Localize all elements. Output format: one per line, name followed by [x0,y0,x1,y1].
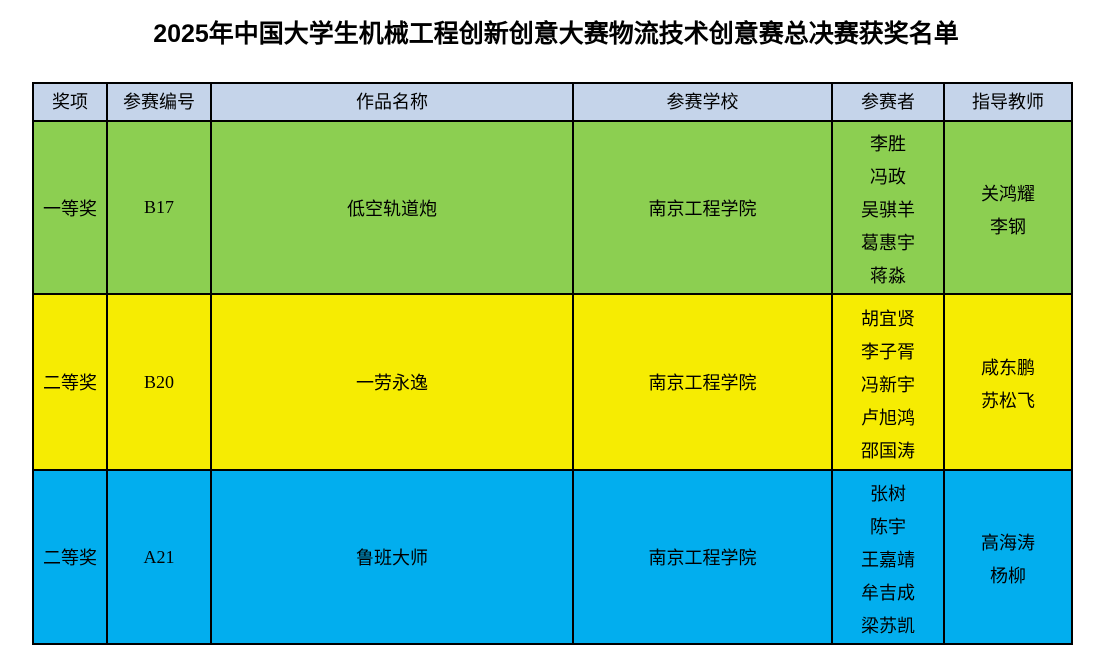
award-table-container: 奖项 参赛编号 作品名称 参赛学校 参赛者 指导教师 一等奖 B17 低空轨道炮… [32,82,1071,645]
member-name: 葛惠宇 [833,227,943,260]
cell-work: 低空轨道炮 [211,121,573,294]
column-header-award: 奖项 [33,83,107,121]
cell-work: 鲁班大师 [211,470,573,644]
member-name: 牟吉成 [833,577,943,610]
teacher-name: 杨柳 [945,560,1071,593]
page-title: 2025年中国大学生机械工程创新创意大赛物流技术创意赛总决赛获奖名单 [0,14,1112,50]
cell-members: 李胜 冯政 吴骐羊 葛惠宇 蒋淼 [832,121,944,294]
member-name: 胡宜贤 [833,303,943,336]
member-name-list: 张树 陈宇 王嘉靖 牟吉成 梁苏凯 [833,472,943,643]
cell-teachers: 关鸿耀 李钢 [944,121,1072,294]
member-name: 李胜 [833,128,943,161]
cell-code: B17 [107,121,211,294]
cell-teachers: 高海涛 杨柳 [944,470,1072,644]
column-header-teachers: 指导教师 [944,83,1072,121]
teacher-name: 咸东鹏 [945,352,1071,385]
cell-school: 南京工程学院 [573,470,832,644]
column-header-code: 参赛编号 [107,83,211,121]
member-name: 卢旭鸿 [833,402,943,435]
cell-members: 胡宜贤 李子胥 冯新宇 卢旭鸿 邵国涛 [832,294,944,470]
cell-teachers: 咸东鹏 苏松飞 [944,294,1072,470]
cell-work: 一劳永逸 [211,294,573,470]
member-name: 邵国涛 [833,435,943,468]
cell-members: 张树 陈宇 王嘉靖 牟吉成 梁苏凯 [832,470,944,644]
teacher-name-list: 关鸿耀 李钢 [945,172,1071,244]
member-name-list: 胡宜贤 李子胥 冯新宇 卢旭鸿 邵国涛 [833,297,943,468]
cell-school: 南京工程学院 [573,121,832,294]
teacher-name: 苏松飞 [945,385,1071,418]
table-row: 二等奖 A21 鲁班大师 南京工程学院 张树 陈宇 王嘉靖 牟吉成 梁苏凯 [33,470,1072,644]
table-body: 一等奖 B17 低空轨道炮 南京工程学院 李胜 冯政 吴骐羊 葛惠宇 蒋淼 [33,121,1072,644]
member-name: 吴骐羊 [833,194,943,227]
teacher-name: 关鸿耀 [945,178,1071,211]
teacher-name-list: 高海涛 杨柳 [945,521,1071,593]
member-name: 蒋淼 [833,260,943,293]
table-row: 一等奖 B17 低空轨道炮 南京工程学院 李胜 冯政 吴骐羊 葛惠宇 蒋淼 [33,121,1072,294]
member-name: 冯政 [833,161,943,194]
member-name-list: 李胜 冯政 吴骐羊 葛惠宇 蒋淼 [833,122,943,293]
column-header-work: 作品名称 [211,83,573,121]
cell-code: B20 [107,294,211,470]
teacher-name: 高海涛 [945,527,1071,560]
column-header-members: 参赛者 [832,83,944,121]
cell-award: 一等奖 [33,121,107,294]
cell-award: 二等奖 [33,294,107,470]
award-table: 奖项 参赛编号 作品名称 参赛学校 参赛者 指导教师 一等奖 B17 低空轨道炮… [32,82,1073,645]
member-name: 李子胥 [833,336,943,369]
member-name: 陈宇 [833,511,943,544]
member-name: 冯新宇 [833,369,943,402]
teacher-name-list: 咸东鹏 苏松飞 [945,346,1071,418]
column-header-school: 参赛学校 [573,83,832,121]
member-name: 张树 [833,478,943,511]
page-root: 2025年中国大学生机械工程创新创意大赛物流技术创意赛总决赛获奖名单 奖项 参赛… [0,0,1112,660]
cell-school: 南京工程学院 [573,294,832,470]
cell-award: 二等奖 [33,470,107,644]
cell-code: A21 [107,470,211,644]
table-header-row: 奖项 参赛编号 作品名称 参赛学校 参赛者 指导教师 [33,83,1072,121]
member-name: 王嘉靖 [833,544,943,577]
table-header: 奖项 参赛编号 作品名称 参赛学校 参赛者 指导教师 [33,83,1072,121]
teacher-name: 李钢 [945,211,1071,244]
member-name: 梁苏凯 [833,610,943,643]
table-row: 二等奖 B20 一劳永逸 南京工程学院 胡宜贤 李子胥 冯新宇 卢旭鸿 邵国涛 [33,294,1072,470]
